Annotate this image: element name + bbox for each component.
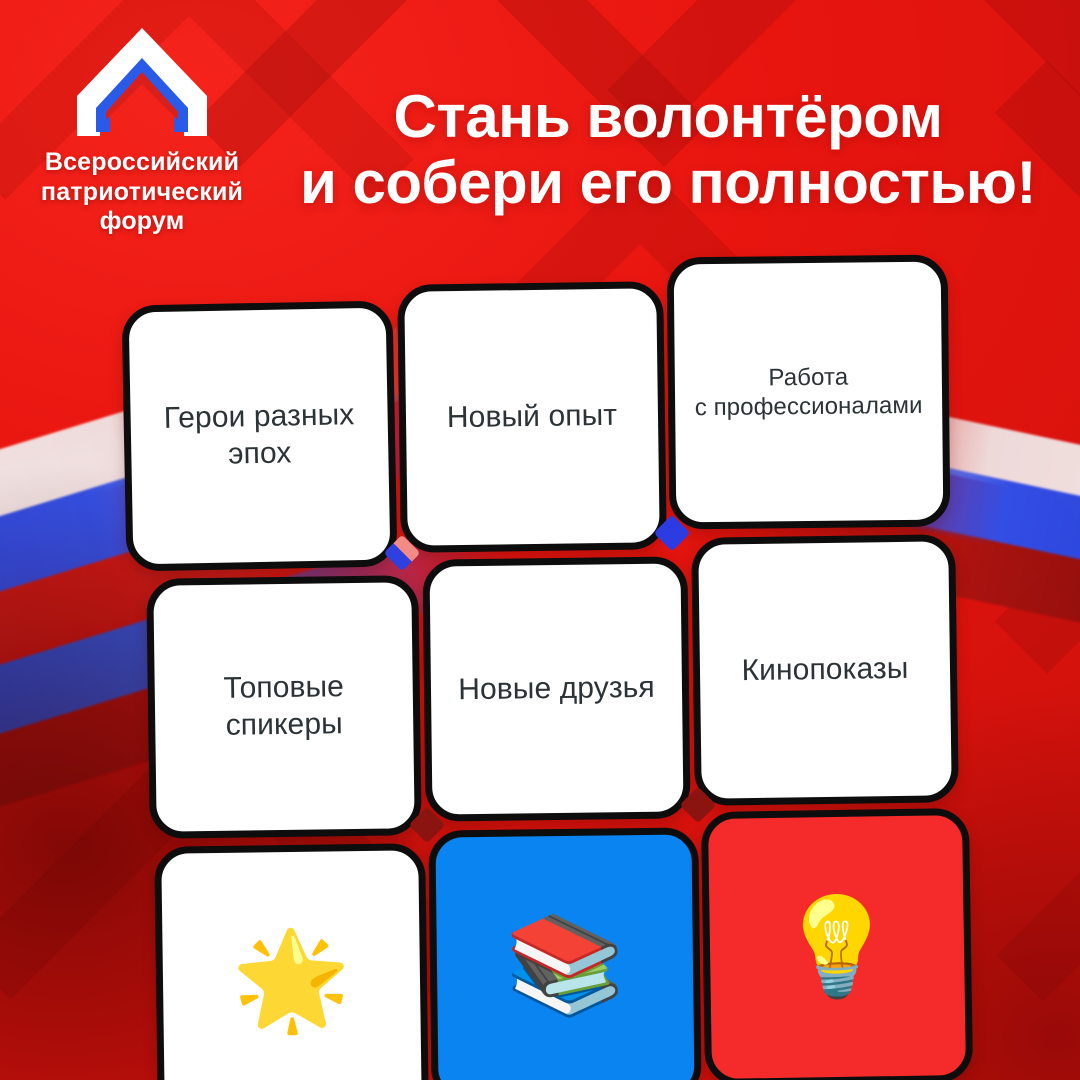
glowing-star-icon: 🌟 [231,931,352,1029]
forum-logo-text: Всероссийский патриотический форум [22,148,262,237]
headline-line-2: и собери его полностью! [268,150,1068,216]
headline: Стань волонтёром и собери его полностью! [268,84,1068,216]
logo-line-1: Всероссийский [45,148,239,176]
benefit-card[interactable]: Кинопоказы [691,534,959,806]
forum-logo: Всероссийский патриотический форум [22,22,262,237]
benefit-card[interactable]: 💡 [701,808,973,1080]
benefit-card[interactable]: Новые друзья [422,556,690,821]
books-icon: 📚 [505,916,626,1013]
benefit-card[interactable]: Новый опыт [397,281,667,553]
logo-line-2: патриотический [41,178,243,206]
benefit-card-label: Топовые спикеры [169,669,400,745]
light-bulb-icon: 💡 [776,898,897,996]
benefit-card[interactable]: Герои разных эпох [121,300,397,571]
benefit-card[interactable]: Работа с профессионалами [667,255,951,530]
benefit-card-label: Новые друзья [458,670,655,709]
benefit-card[interactable]: 📚 [428,827,701,1080]
benefit-card-label-line-1: Работа [768,363,848,391]
chevron-emblem-icon [67,22,217,142]
benefit-card-label: Новый опыт [447,398,618,437]
benefit-card-label: Работа с профессионалами [694,362,922,423]
benefit-card-label-line-2: с профессионалами [695,392,923,421]
benefit-card[interactable]: Топовые спикеры [146,575,422,839]
logo-line-3: форум [100,207,185,235]
poster-canvas: Всероссийский патриотический форум Стань… [0,0,1080,1080]
benefit-card-label: Кинопоказы [741,651,908,690]
headline-line-1: Стань волонтёром [394,83,943,150]
benefit-card[interactable]: 🌟 [154,843,429,1080]
benefit-card-label: Герои разных эпох [144,397,374,475]
